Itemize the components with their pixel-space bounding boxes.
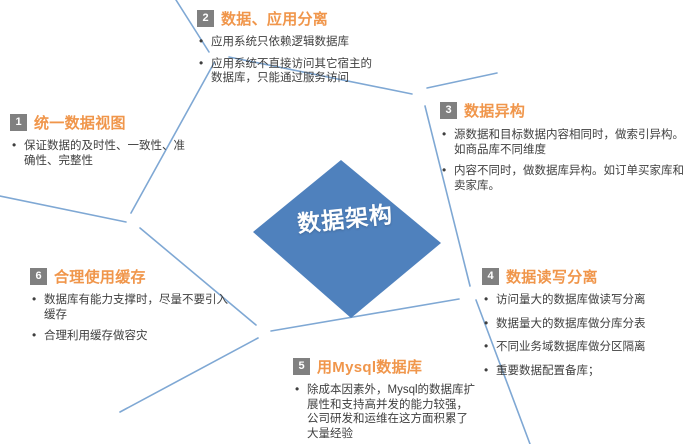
diagram-canvas: 数据架构 1 统一数据视图 保证数据的及时性、一致性、准确性、完整性 2 数据、…: [0, 0, 690, 444]
section-4-header: 4 数据读写分离: [482, 266, 690, 287]
section-2: 2 数据、应用分离 应用系统只依赖逻辑数据库 应用系统不直接访问其它宿主的数据库…: [197, 8, 372, 86]
section-3: 3 数据异构 源数据和目标数据内容相同时，做索引异构。如商品库不同维度 内容不同…: [440, 100, 688, 193]
section-5-number-badge: 5: [293, 358, 310, 375]
bullet-item: 除成本因素外，Mysql的数据库扩展性和支持高并发的能力较强，公司研发和运维在这…: [293, 383, 478, 441]
section-5: 5 用Mysql数据库 除成本因素外，Mysql的数据库扩展性和支持高并发的能力…: [293, 356, 478, 441]
ray-bottom-left: [120, 338, 258, 412]
section-3-header: 3 数据异构: [440, 100, 688, 121]
section-4: 4 数据读写分离 访问量大的数据库做读写分离 数据量大的数据库做分库分表 不同业…: [482, 266, 690, 387]
ray-left: [0, 196, 126, 222]
section-5-title: 用Mysql数据库: [317, 356, 422, 377]
section-6-header: 6 合理使用缓存: [30, 266, 230, 287]
bullet-item: 应用系统不直接访问其它宿主的数据库，只能通过服务访问: [197, 57, 372, 86]
section-1-header: 1 统一数据视图: [10, 112, 190, 133]
bullet-item: 应用系统只依赖逻辑数据库: [197, 35, 372, 50]
section-6: 6 合理使用缓存 数据库有能力支撑时，尽量不要引入缓存 合理利用缓存做容灾: [30, 266, 230, 344]
frame-edge-bottom-left: [271, 299, 459, 331]
section-1: 1 统一数据视图 保证数据的及时性、一致性、准确性、完整性: [10, 112, 190, 169]
bullet-item: 访问量大的数据库做读写分离: [482, 293, 690, 308]
section-2-number-badge: 2: [197, 10, 214, 27]
section-2-bullets: 应用系统只依赖逻辑数据库 应用系统不直接访问其它宿主的数据库，只能通过服务访问: [197, 35, 372, 86]
section-4-number-badge: 4: [482, 268, 499, 285]
section-4-title: 数据读写分离: [506, 266, 598, 287]
section-1-number-badge: 1: [10, 114, 27, 131]
bullet-item: 不同业务域数据库做分区隔离: [482, 340, 690, 355]
ray-top-right: [427, 73, 497, 88]
section-2-header: 2 数据、应用分离: [197, 8, 372, 29]
section-5-bullets: 除成本因素外，Mysql的数据库扩展性和支持高并发的能力较强，公司研发和运维在这…: [293, 383, 478, 441]
bullet-item: 合理利用缓存做容灾: [30, 329, 230, 344]
section-1-bullets: 保证数据的及时性、一致性、准确性、完整性: [10, 139, 190, 169]
center-diamond-label: 数据架构: [254, 191, 437, 244]
bullet-item: 重要数据配置备库；: [482, 364, 690, 379]
section-3-number-badge: 3: [440, 102, 457, 119]
section-6-title: 合理使用缓存: [54, 266, 146, 287]
bullet-item: 源数据和目标数据内容相同时，做索引异构。如商品库不同维度: [440, 128, 688, 157]
bullet-item: 数据量大的数据库做分库分表: [482, 317, 690, 332]
section-2-title: 数据、应用分离: [221, 8, 328, 29]
section-3-title: 数据异构: [464, 100, 525, 121]
section-6-bullets: 数据库有能力支撑时，尽量不要引入缓存 合理利用缓存做容灾: [30, 293, 230, 344]
section-4-bullets: 访问量大的数据库做读写分离 数据量大的数据库做分库分表 不同业务域数据库做分区隔…: [482, 293, 690, 378]
section-6-number-badge: 6: [30, 268, 47, 285]
bullet-item: 保证数据的及时性、一致性、准确性、完整性: [10, 139, 190, 169]
bullet-item: 内容不同时，做数据库异构。如订单买家库和卖家库。: [440, 164, 688, 193]
section-1-title: 统一数据视图: [34, 112, 126, 133]
section-3-bullets: 源数据和目标数据内容相同时，做索引异构。如商品库不同维度 内容不同时，做数据库异…: [440, 128, 688, 193]
section-5-header: 5 用Mysql数据库: [293, 356, 478, 377]
bullet-item: 数据库有能力支撑时，尽量不要引入缓存: [30, 293, 230, 322]
